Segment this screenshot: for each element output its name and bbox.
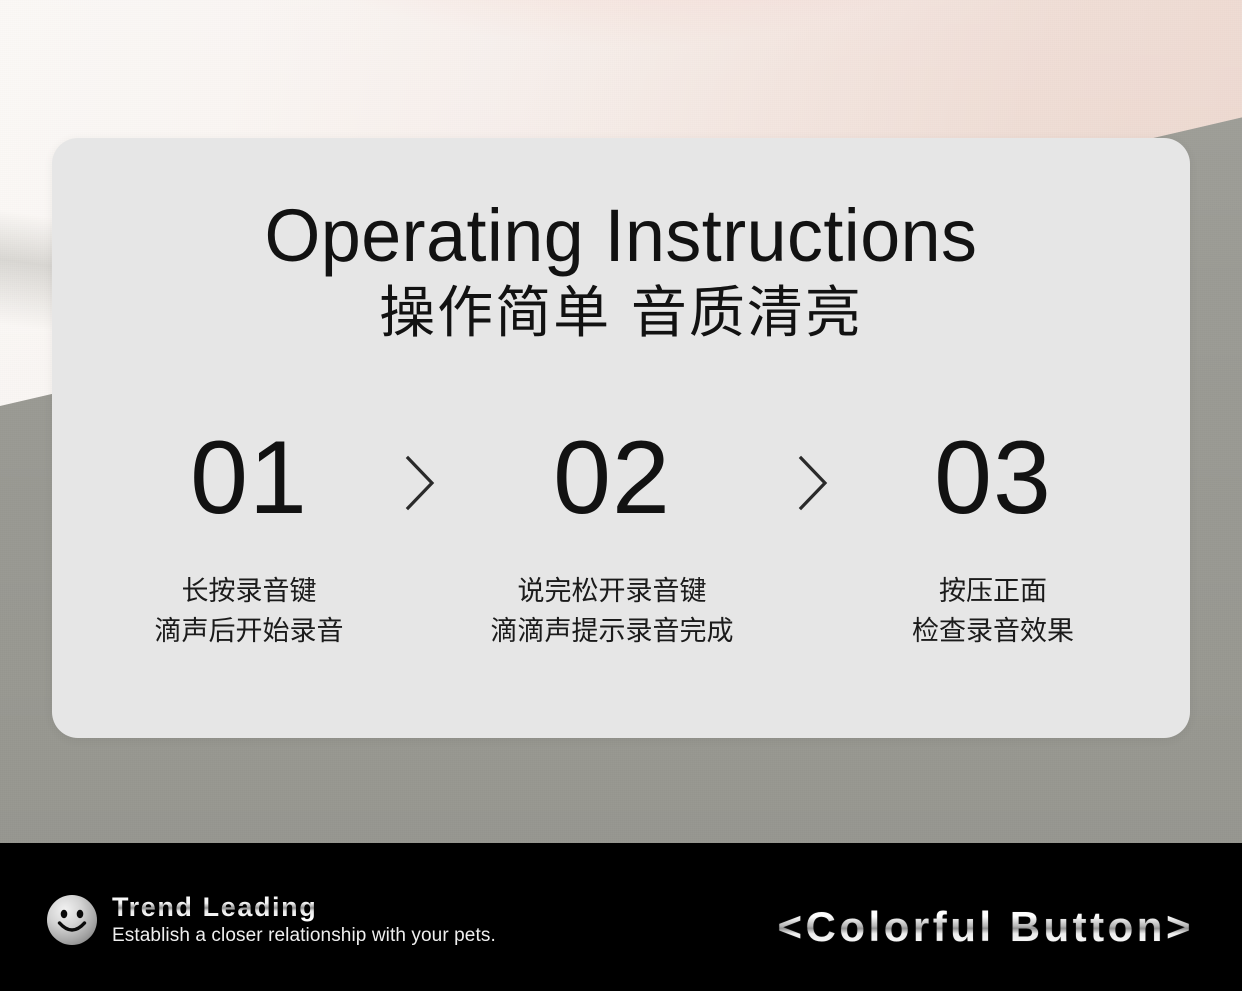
brand-block: Trend Leading Establish a closer relatio… xyxy=(46,893,496,947)
product-name: <Colorful Button> xyxy=(778,903,1194,951)
page-subtitle-chinese: 操作简单 音质清亮 xyxy=(52,281,1190,347)
step-description-02: 说完松开录音键 滴滴声提示录音完成 xyxy=(491,572,734,652)
step-number-03: 03 xyxy=(934,426,1052,530)
step-description-01-line2: 滴声后开始录音 xyxy=(155,612,344,652)
step-description-01: 长按录音键 滴声后开始录音 xyxy=(155,572,344,652)
step-item-02: 02 说完松开录音键 滴滴声提示录音完成 xyxy=(466,426,758,652)
brand-tagline: Establish a closer relationship with you… xyxy=(112,925,496,948)
poster-stage: Operating Instructions 操作简单 音质清亮 01 长按录音… xyxy=(0,0,1242,991)
page-title-english: Operating Instructions xyxy=(69,198,1173,273)
step-item-03: 03 按压正面 检查录音效果 xyxy=(868,426,1118,652)
step-separator-1 xyxy=(374,426,466,512)
step-description-03: 按压正面 检查录音效果 xyxy=(912,572,1074,652)
step-description-01-line1: 长按录音键 xyxy=(155,572,344,612)
brand-name: Trend Leading xyxy=(112,893,496,923)
brand-text-block: Trend Leading Establish a closer relatio… xyxy=(112,893,496,947)
smiley-face-icon xyxy=(46,894,98,946)
step-item-01: 01 长按录音键 滴声后开始录音 xyxy=(124,426,374,652)
step-description-02-line2: 滴滴声提示录音完成 xyxy=(491,612,734,652)
step-separator-2 xyxy=(758,426,868,512)
step-description-03-line2: 检查录音效果 xyxy=(912,612,1074,652)
instructions-card: Operating Instructions 操作简单 音质清亮 01 长按录音… xyxy=(52,138,1190,738)
step-number-02: 02 xyxy=(553,426,671,530)
steps-row: 01 长按录音键 滴声后开始录音 02 说完松开录音键 xyxy=(52,426,1190,652)
step-description-02-line1: 说完松开录音键 xyxy=(491,572,734,612)
card-heading-block: Operating Instructions 操作简单 音质清亮 xyxy=(52,138,1190,348)
chevron-right-icon xyxy=(796,454,830,512)
step-number-01: 01 xyxy=(190,426,308,530)
step-description-03-line1: 按压正面 xyxy=(912,572,1074,612)
chevron-right-icon xyxy=(403,454,437,512)
footer-bar: Trend Leading Establish a closer relatio… xyxy=(0,843,1242,991)
